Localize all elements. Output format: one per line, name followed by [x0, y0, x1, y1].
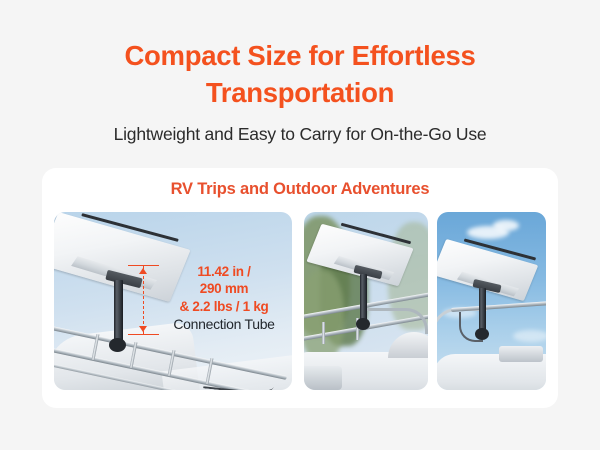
dimension-dashed-line [143, 266, 144, 334]
dish-panel-top [437, 239, 538, 301]
photo-panel-group [54, 212, 546, 390]
satellite-dish-assembly [437, 212, 546, 390]
satellite-dish-assembly [304, 212, 428, 390]
page-subhead: Lightweight and Easy to Carry for On-the… [40, 124, 560, 146]
pole-base-joint [475, 328, 489, 340]
connection-tube-pole [114, 280, 123, 346]
dimension-tick-bottom [128, 334, 159, 335]
photo-panel-dish-blue-sky [437, 212, 546, 390]
feature-card: RV Trips and Outdoor Adventures [42, 168, 558, 408]
callout-value-line-1: 11.42 in / [160, 263, 288, 280]
dimension-arrow-up-icon [139, 268, 147, 274]
page-headline: Compact Size for Effortless Transportati… [50, 38, 550, 111]
callout-value-line-3: & 2.2 lbs / 1 kg [160, 298, 288, 315]
callout-label: Connection Tube [160, 316, 288, 332]
dimension-arrow-down-icon [139, 326, 147, 332]
promo-page: Compact Size for Effortless Transportati… [0, 0, 600, 450]
dimension-callout: 11.42 in / 290 mm & 2.2 lbs / 1 kg Conne… [160, 263, 288, 332]
card-title: RV Trips and Outdoor Adventures [42, 180, 558, 199]
pole-base-joint [356, 318, 370, 330]
photo-panel-dish-with-trees [304, 212, 428, 390]
pole-base-joint [109, 338, 126, 352]
callout-value-line-2: 290 mm [160, 280, 288, 297]
